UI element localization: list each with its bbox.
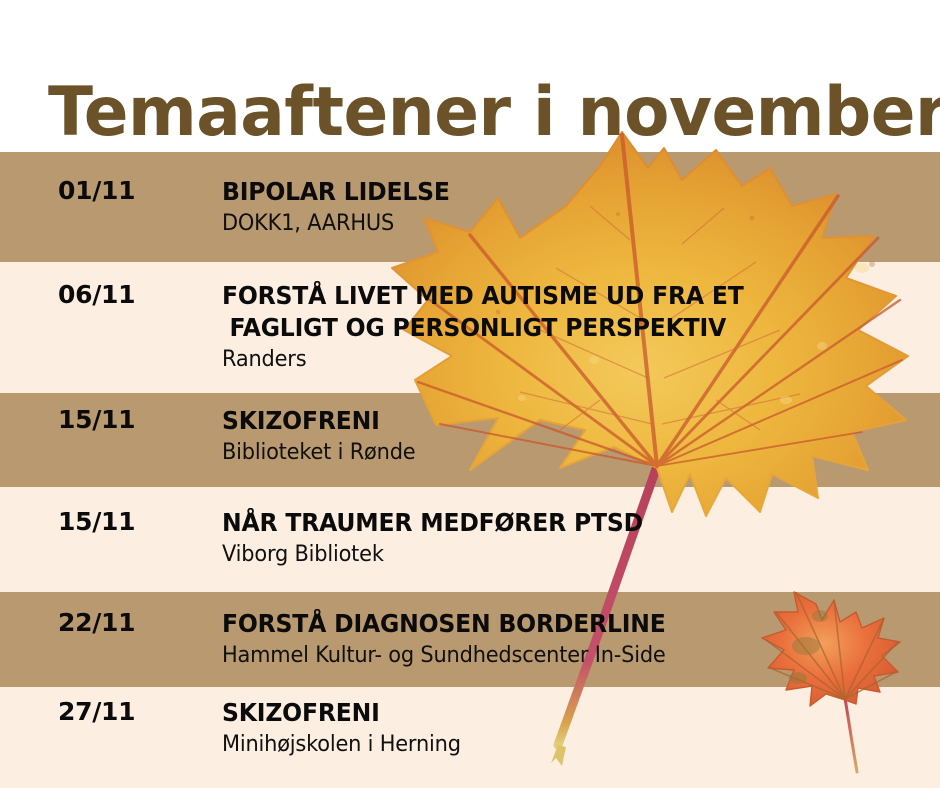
event-date: 15/11 <box>58 405 135 435</box>
event-title: FORSTÅ LIVET MED AUTISME UD FRA ETFAGLIG… <box>222 280 888 344</box>
event-venue: Biblioteket i Rønde <box>222 439 895 467</box>
event-title-line: FAGLIGT OG PERSONLIGT PERSPEKTIV <box>222 312 888 344</box>
event-date: 15/11 <box>58 507 135 537</box>
event-date: 01/11 <box>58 176 135 206</box>
event-title: FORSTÅ DIAGNOSEN BORDERLINE <box>222 608 888 640</box>
event-date: 22/11 <box>58 608 135 638</box>
event-venue: Hammel Kultur- og Sundhedscenter In-Side <box>222 642 895 670</box>
event-title-line: SKIZOFRENI <box>222 405 888 437</box>
event-title-line: BIPOLAR LIDELSE <box>222 176 888 208</box>
event-body: SKIZOFRENIMinihøjskolen i Herning <box>222 697 930 759</box>
event-venue: Minihøjskolen i Herning <box>222 731 895 759</box>
event-title-line: SKIZOFRENI <box>222 697 888 729</box>
event-body: FORSTÅ DIAGNOSEN BORDERLINEHammel Kultur… <box>222 608 930 670</box>
event-title: BIPOLAR LIDELSE <box>222 176 888 208</box>
event-title: NÅR TRAUMER MEDFØRER PTSD <box>222 507 888 539</box>
event-title-line: FORSTÅ DIAGNOSEN BORDERLINE <box>222 608 888 640</box>
event-body: SKIZOFRENIBiblioteket i Rønde <box>222 405 930 467</box>
event-list: 01/11BIPOLAR LIDELSEDOKK1, AARHUS06/11FO… <box>0 0 940 788</box>
event-date: 06/11 <box>58 280 135 310</box>
event-venue: DOKK1, AARHUS <box>222 210 895 238</box>
event-body: NÅR TRAUMER MEDFØRER PTSDViborg Bibliote… <box>222 507 930 569</box>
event-body: FORSTÅ LIVET MED AUTISME UD FRA ETFAGLIG… <box>222 280 930 374</box>
event-venue: Viborg Bibliotek <box>222 541 895 569</box>
event-body: BIPOLAR LIDELSEDOKK1, AARHUS <box>222 176 930 238</box>
event-date: 27/11 <box>58 697 135 727</box>
event-venue: Randers <box>222 346 895 374</box>
event-title-line: FORSTÅ LIVET MED AUTISME UD FRA ET <box>222 280 888 312</box>
poster-canvas: Temaaftener i november 01/11BIPOLAR LIDE… <box>0 0 940 788</box>
event-title: SKIZOFRENI <box>222 405 888 437</box>
event-title-line: NÅR TRAUMER MEDFØRER PTSD <box>222 507 888 539</box>
event-title: SKIZOFRENI <box>222 697 888 729</box>
